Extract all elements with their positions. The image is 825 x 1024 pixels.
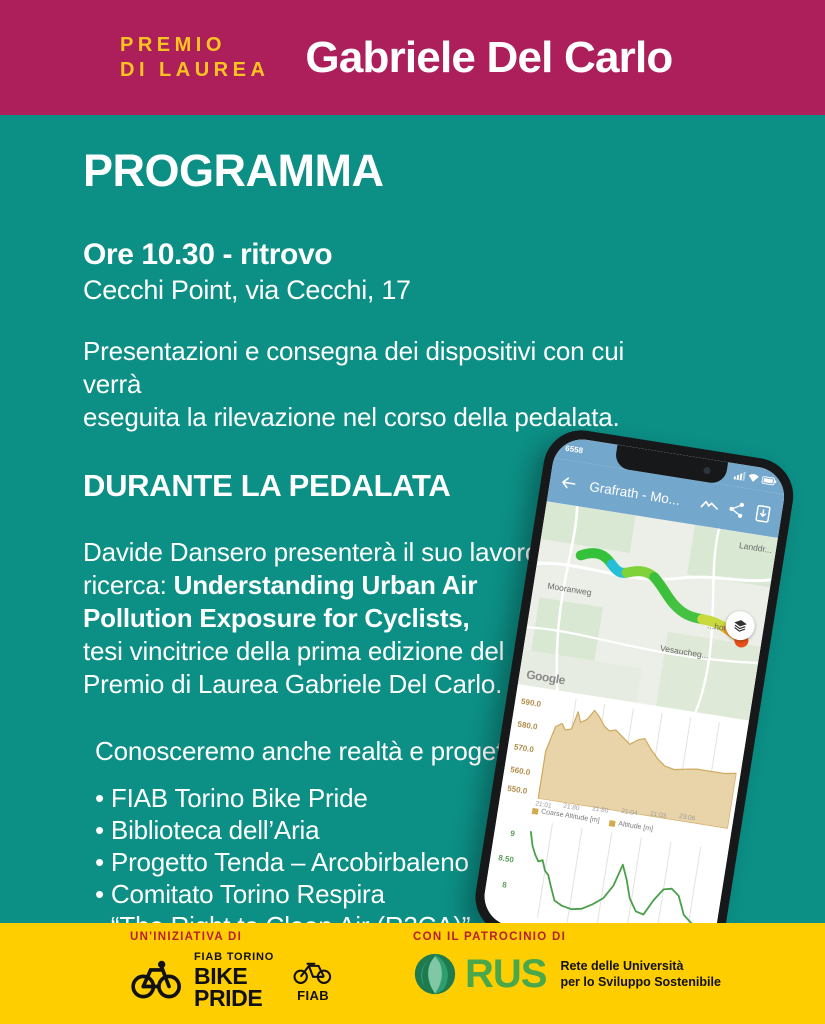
front-camera-icon xyxy=(703,467,711,475)
footer-left-logos: FIAB TORINO BIKE PRIDE FIAB xyxy=(130,952,334,1009)
meeting-venue: Cecchi Point, via Cecchi, 17 xyxy=(83,273,640,307)
y-tick-label: 590.0 xyxy=(520,697,541,709)
signal-bars-icon xyxy=(734,470,746,481)
app-bar-title: Grafrath - Mo... xyxy=(589,478,694,509)
footer-patronage-label: CON IL PATROCINIO DI xyxy=(413,931,721,943)
bike-pride-wordmark: FIAB TORINO BIKE PRIDE xyxy=(194,952,274,1009)
ride-intro-line3: tesi vincitrice della prima edizione del… xyxy=(83,636,504,699)
export-document-icon[interactable] xyxy=(752,502,774,524)
meeting-time-title: Ore 10.30 - ritrovo xyxy=(83,237,640,273)
fiab-torino-label: FIAB TORINO xyxy=(194,952,274,963)
page-title: PROGRAMMA xyxy=(83,145,640,197)
map-view[interactable]: Mooranweg Vesaucheg... Landdr... ...hor … xyxy=(518,501,778,720)
pride-label: PRIDE xyxy=(194,987,274,1009)
rus-tagline-line1: Rete delle Università xyxy=(560,958,720,974)
bike-pride-mark-icon xyxy=(130,958,186,1004)
rus-logo: RUS Rete delle Università per lo Svilupp… xyxy=(413,952,721,996)
x-tick-label: 21:80 xyxy=(592,805,609,814)
y-tick-label: 8 xyxy=(502,880,508,890)
y-tick-label: 580.0 xyxy=(517,720,538,732)
legend-swatch-icon xyxy=(532,807,539,814)
y-tick-label: 9 xyxy=(510,829,516,839)
poster-root: PREMIO DI LAUREA Gabriele Del Carlo PROG… xyxy=(0,0,825,1024)
footer-patronage-block: CON IL PATROCINIO DI RUS Rete delle Univ… xyxy=(413,931,721,996)
bike-label: BIKE xyxy=(194,965,274,987)
fiab-logo: FIAB xyxy=(292,959,334,1003)
y-tick-label: 8.50 xyxy=(498,853,515,864)
footer-initiative-block: UN'INIZIATIVA DI FIAB TORINO BIKE PRI xyxy=(130,931,334,1009)
map-layers-icon xyxy=(732,617,749,634)
poster-header: PREMIO DI LAUREA Gabriele Del Carlo xyxy=(0,0,825,115)
bicycle-icon xyxy=(292,959,334,985)
status-icons xyxy=(734,470,778,486)
y-tick-label: 550.0 xyxy=(507,784,528,796)
share-icon[interactable] xyxy=(726,498,748,520)
meeting-description: Presentazioni e consegna dei dispositivi… xyxy=(83,335,640,434)
block-meeting: Ore 10.30 - ritrovo Cecchi Point, via Ce… xyxy=(83,237,640,434)
analytics-icon[interactable] xyxy=(699,494,721,516)
x-tick-label: 21:80 xyxy=(563,803,580,812)
x-tick-label: 21:03 xyxy=(650,810,667,819)
rus-tagline-line2: per lo Sviluppo Sostenibile xyxy=(560,974,720,990)
poster-footer: UN'INIZIATIVA DI FIAB TORINO BIKE PRI xyxy=(0,923,825,1024)
wifi-icon xyxy=(747,473,759,484)
rus-mark xyxy=(413,952,457,996)
y-tick-label: 570.0 xyxy=(513,742,534,754)
footer-initiative-label: UN'INIZIATIVA DI xyxy=(130,931,334,943)
bike-pride-logo: FIAB TORINO BIKE PRIDE xyxy=(130,952,274,1009)
rus-wordmark: RUS xyxy=(465,956,546,992)
rus-leaf-icon xyxy=(413,952,457,996)
x-tick-label: 21:04 xyxy=(621,808,638,817)
back-arrow-icon[interactable] xyxy=(558,472,580,494)
battery-icon xyxy=(761,475,777,485)
status-time: 6558 xyxy=(565,444,584,456)
ride-intro-line1: Davide Dansero presenterà il suo lavoro … xyxy=(83,537,566,567)
header-kicker: PREMIO DI LAUREA xyxy=(120,33,269,83)
rus-tagline: Rete delle Università per lo Sviluppo So… xyxy=(560,958,720,990)
fiab-wordmark: FIAB xyxy=(292,988,334,1003)
legend-swatch-icon xyxy=(609,820,616,827)
header-title: Gabriele Del Carlo xyxy=(305,33,672,83)
ride-intro-line2: ricerca: xyxy=(83,570,174,600)
y-tick-label: 560.0 xyxy=(510,765,531,777)
